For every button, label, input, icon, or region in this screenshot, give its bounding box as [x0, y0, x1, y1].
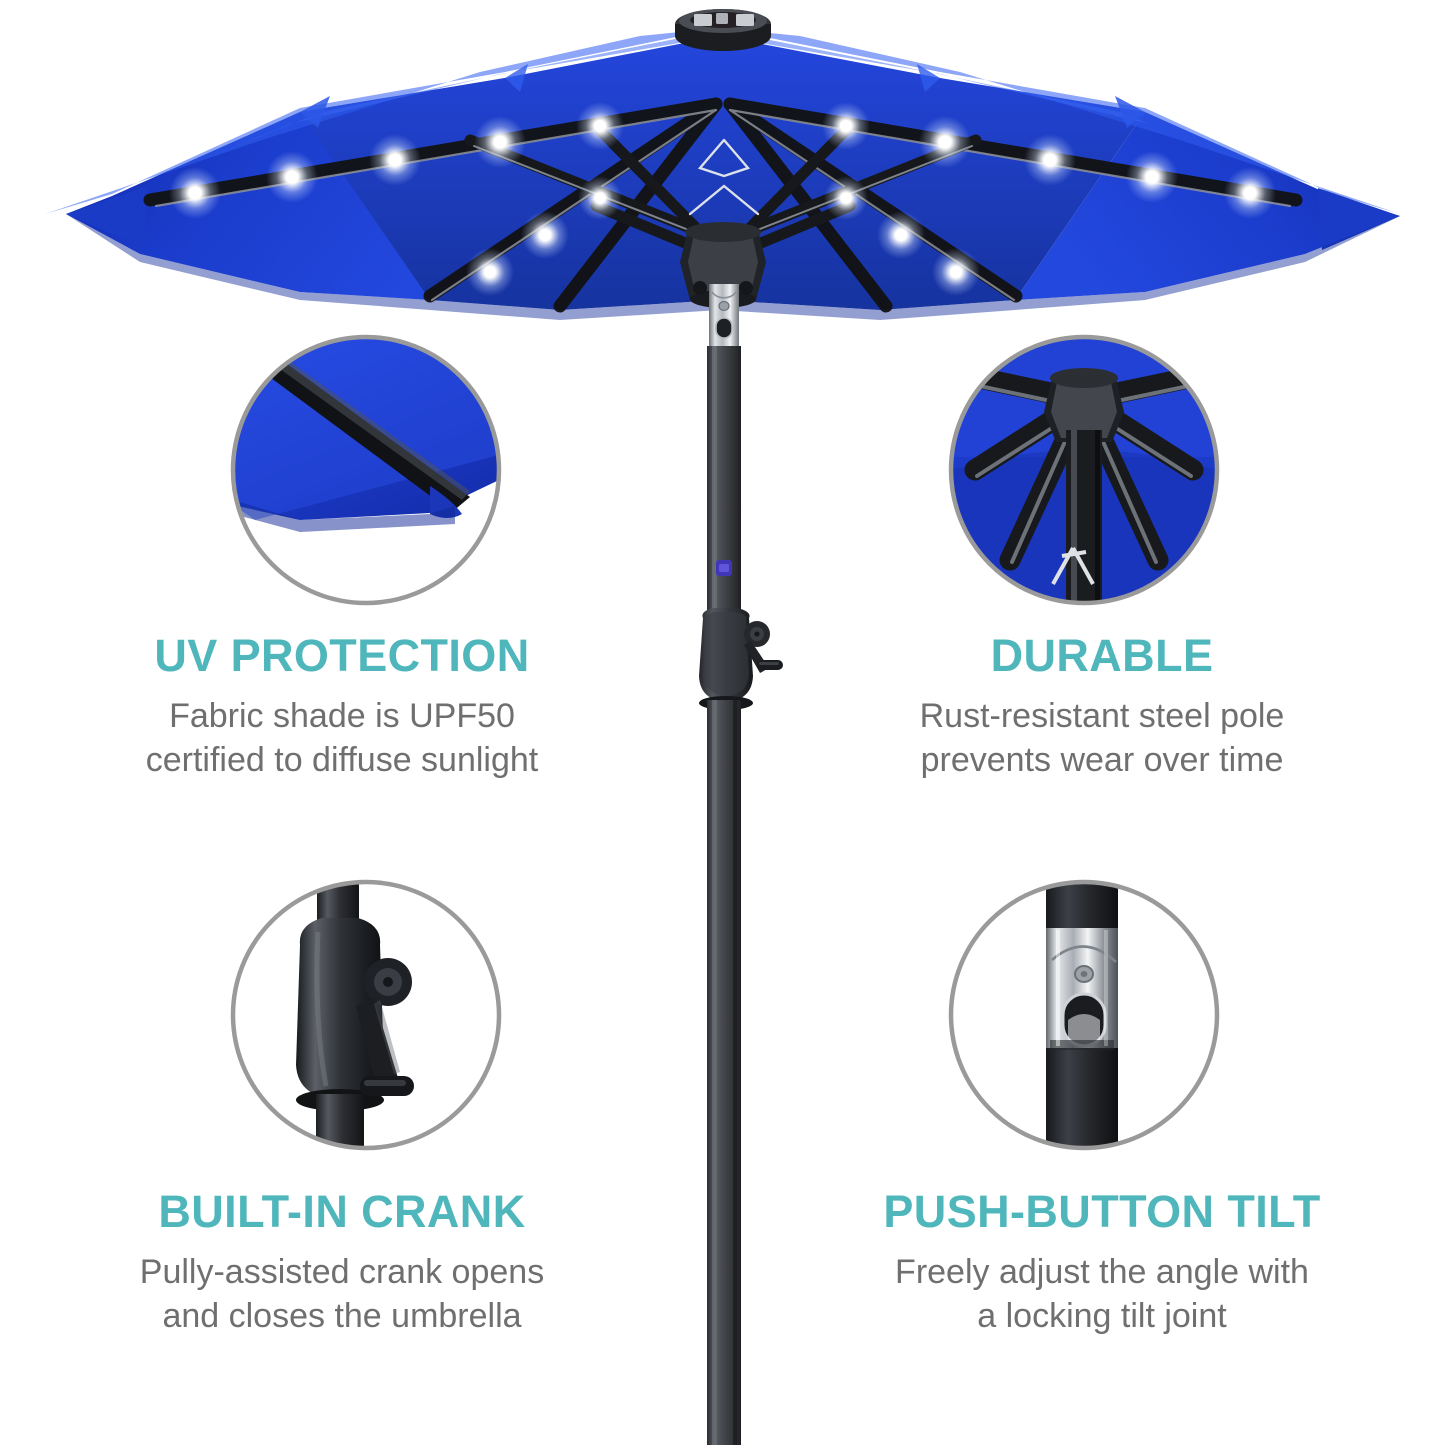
feature-description-line: and closes the umbrella: [22, 1295, 662, 1339]
feature-description-line: Fabric shade is UPF50: [22, 695, 662, 739]
feature-description: Fabric shade is UPF50 certified to diffu…: [22, 695, 662, 782]
feature-description-line: Freely adjust the angle with: [782, 1251, 1422, 1295]
product-infographic: UV PROTECTION Fabric shade is UPF50 cert…: [0, 0, 1445, 1445]
feature-description-line: Pully-assisted crank opens: [22, 1251, 662, 1295]
feature-heading: DURABLE: [782, 632, 1422, 679]
feature-built-in-crank: BUILT-IN CRANK Pully-assisted crank open…: [22, 1188, 662, 1338]
feature-description: Pully-assisted crank opens and closes th…: [22, 1251, 662, 1338]
feature-description: Freely adjust the angle with a locking t…: [782, 1251, 1422, 1338]
feature-durable: DURABLE Rust-resistant steel pole preven…: [782, 632, 1422, 782]
feature-description-line: prevents wear over time: [782, 739, 1422, 783]
feature-push-button-tilt: PUSH-BUTTON TILT Freely adjust the angle…: [782, 1188, 1422, 1338]
feature-uv-protection: UV PROTECTION Fabric shade is UPF50 cert…: [22, 632, 662, 782]
feature-heading: UV PROTECTION: [22, 632, 662, 679]
feature-heading: PUSH-BUTTON TILT: [782, 1188, 1422, 1235]
feature-description-line: a locking tilt joint: [782, 1295, 1422, 1339]
feature-description: Rust-resistant steel pole prevents wear …: [782, 695, 1422, 782]
feature-heading: BUILT-IN CRANK: [22, 1188, 662, 1235]
feature-description-line: certified to diffuse sunlight: [22, 739, 662, 783]
feature-description-line: Rust-resistant steel pole: [782, 695, 1422, 739]
